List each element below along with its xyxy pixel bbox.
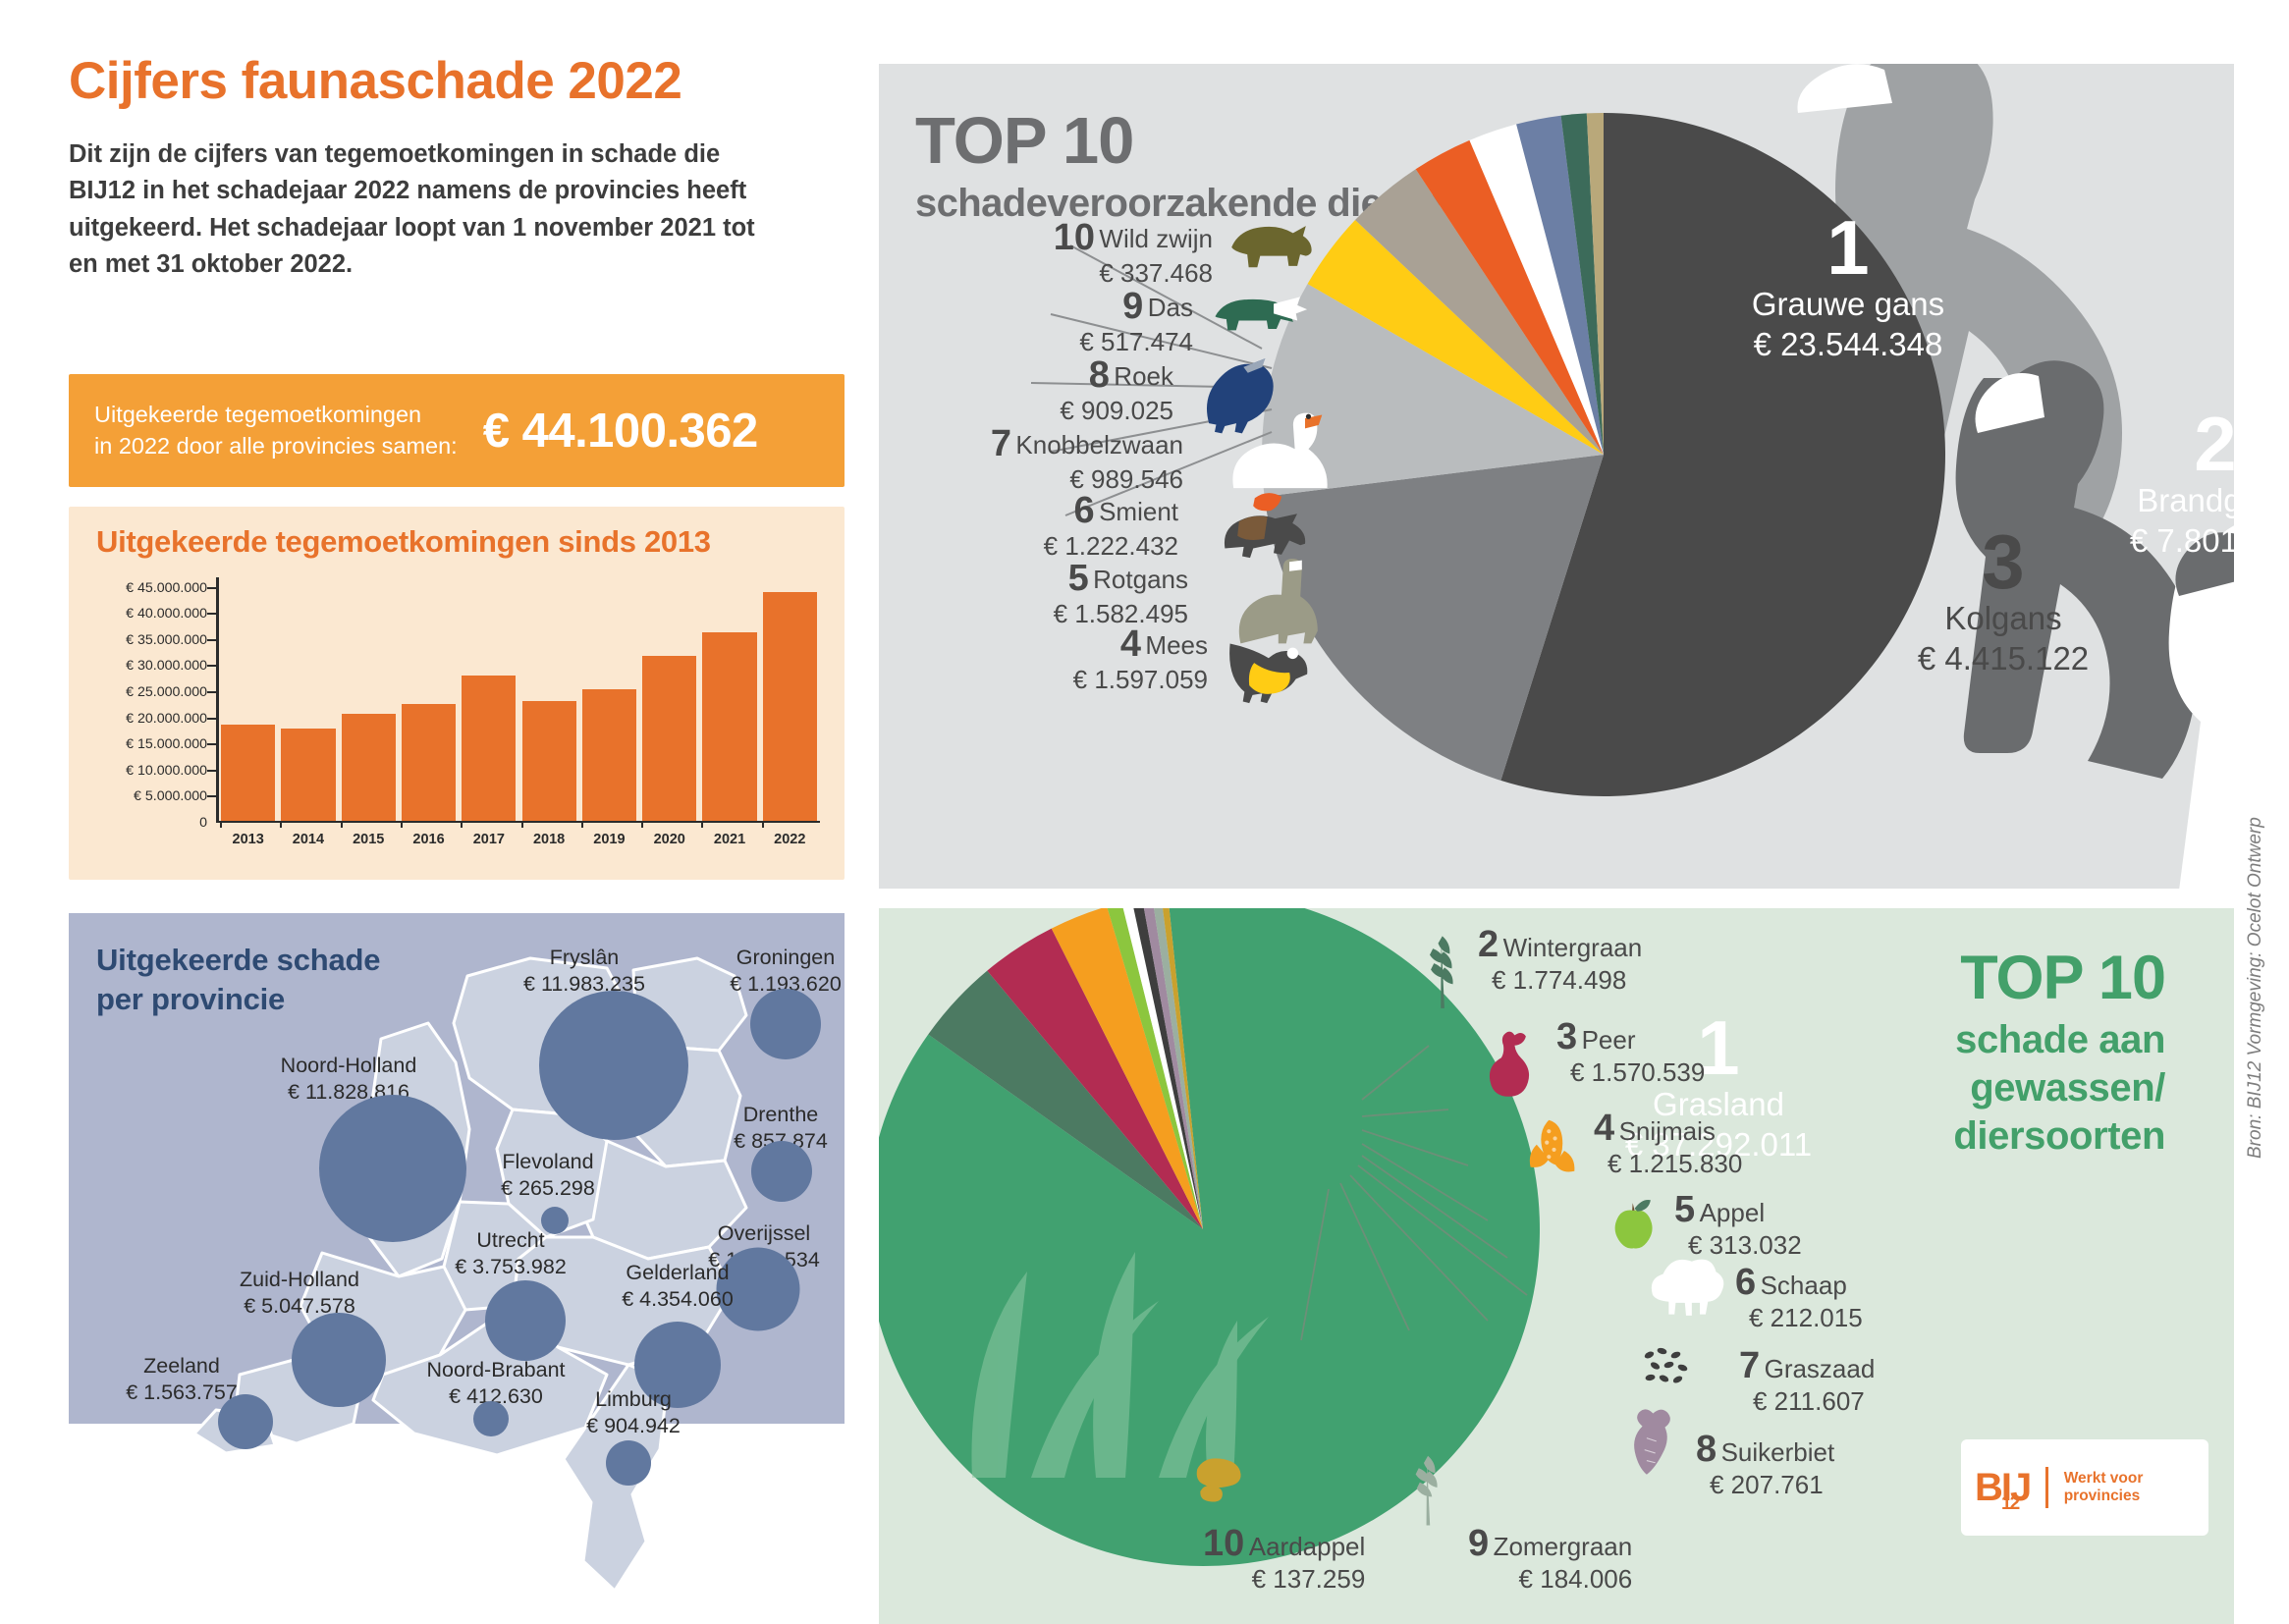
y-axis-tick-label: 0 <box>199 815 207 831</box>
bar <box>702 632 756 821</box>
animal-callout-mees: 4 Mees€ 1.597.059 <box>913 625 1208 695</box>
crop-name: Snijmais <box>1619 1116 1716 1146</box>
crop-name: Wintergraan <box>1503 933 1643 962</box>
total-payout-amount: € 44.100.362 <box>483 404 758 459</box>
crop-name: Schaap <box>1761 1271 1847 1300</box>
crop-value: € 1.215.830 <box>1608 1149 1742 1179</box>
y-axis-tick-label: € 35.000.000 <box>126 632 207 648</box>
crop-rank-number: 7 <box>1739 1345 1760 1386</box>
crop-name: Zomergraan <box>1494 1532 1633 1561</box>
bar-column: 2015 <box>342 577 396 821</box>
x-axis-tick-label: 2013 <box>233 832 264 847</box>
bar <box>522 701 576 821</box>
top10-animals-panel: TOP 10 schadeveroorzakende dieren 1 Grau… <box>879 64 2234 889</box>
province-bubble-noord-holland <box>319 1095 466 1242</box>
province-bubble-frysl-n <box>539 991 688 1140</box>
province-map-title: Uitgekeerde schade per provincie <box>96 941 380 1018</box>
animal-rank-number: 10 <box>1054 217 1095 258</box>
source-credit: Bron: BIJ12 Vormgeving: Ocelot Ontwerp <box>2245 817 2266 1159</box>
crop-value: € 207.761 <box>1710 1470 1834 1500</box>
province-bubble-utrecht <box>485 1280 566 1361</box>
bar <box>402 704 456 821</box>
animal-value: € 337.468 <box>918 258 1213 289</box>
animal-callout-rotgans: 5 Rotgans€ 1.582.495 <box>894 560 1188 629</box>
potato-icon <box>1173 1448 1262 1527</box>
crop-callout-aardappel: 10 Aardappel€ 137.259 <box>1203 1525 1365 1595</box>
province-name: Utrecht <box>455 1227 567 1254</box>
y-axis-tick-label: € 5.000.000 <box>134 788 207 804</box>
province-label-frysl-n: Fryslân€ 11.983.235 <box>523 945 645 998</box>
x-axis-tick-mark <box>641 821 643 828</box>
province-name: Overijssel <box>708 1220 820 1247</box>
animal-value: € 517.474 <box>899 327 1193 357</box>
crop-rank-number: 5 <box>1674 1189 1695 1230</box>
bar <box>642 656 696 821</box>
total-payout-label: Uitgekeerde tegemoetkomingen in 2022 doo… <box>94 400 458 461</box>
x-axis-tick-label: 2015 <box>353 832 384 847</box>
y-axis-tick-mark <box>207 743 216 745</box>
bar <box>763 592 817 821</box>
animal-callout-knobbelzwaan: 7 Knobbelzwaan€ 989.546 <box>879 425 1183 495</box>
logo-tagline: Werkt voor provincies <box>2064 1470 2195 1505</box>
x-axis-tick-label: 2020 <box>654 832 685 847</box>
x-axis-tick-mark <box>762 821 764 828</box>
province-name: Zuid-Holland <box>240 1267 359 1293</box>
x-axis-tick-mark <box>581 821 583 828</box>
crop-rank-number: 4 <box>1594 1108 1614 1149</box>
crop-callout-appel: 5 Appel€ 313.032 <box>1674 1191 1802 1261</box>
x-axis-tick-label: 2014 <box>293 832 324 847</box>
crop-callout-schaap: 6 Schaap€ 212.015 <box>1735 1264 1863 1333</box>
province-name: Drenthe <box>734 1102 828 1128</box>
province-bubble-noord-brabant <box>473 1401 509 1436</box>
bar-column: 2014 <box>281 577 335 821</box>
y-axis-tick-label: € 10.000.000 <box>126 763 207 779</box>
x-axis-tick-mark <box>280 821 282 828</box>
animal-name: Das <box>1148 293 1193 322</box>
y-axis-tick-mark <box>207 613 216 615</box>
province-label-zuid-holland: Zuid-Holland€ 5.047.578 <box>240 1267 359 1320</box>
crop-callout-zomergraan: 9 Zomergraan€ 184.006 <box>1468 1525 1632 1595</box>
province-value: € 3.753.982 <box>455 1254 567 1280</box>
province-bubble-zuid-holland <box>292 1313 386 1407</box>
province-name: Groningen <box>730 945 842 971</box>
logo-divider <box>2045 1467 2047 1508</box>
crop-value: € 184.006 <box>1468 1564 1632 1595</box>
header-block: Cijfers faunaschade 2022 Dit zijn de cij… <box>69 54 795 284</box>
y-axis-tick-label: € 20.000.000 <box>126 711 207 727</box>
animal-value: € 909.025 <box>879 396 1173 426</box>
animal-name: Knobbelzwaan <box>1015 430 1183 460</box>
y-axis-tick-label: € 25.000.000 <box>126 684 207 700</box>
y-axis-tick-label: € 15.000.000 <box>126 736 207 752</box>
x-axis-tick-mark <box>401 821 403 828</box>
crop-callout-suikerbiet: 8 Suikerbiet€ 207.761 <box>1696 1431 1834 1500</box>
x-axis-tick-label: 2019 <box>593 832 625 847</box>
summer-grain-icon <box>1399 1436 1476 1540</box>
bar <box>342 714 396 821</box>
y-axis-tick-label: € 40.000.000 <box>126 606 207 622</box>
bar <box>462 676 516 821</box>
bar-column: 2022 <box>763 577 817 821</box>
crop-callout-wintergraan: 2 Wintergraan€ 1.774.498 <box>1478 926 1642 996</box>
crop-rank-number: 10 <box>1203 1523 1244 1564</box>
pear-icon <box>1478 1014 1554 1112</box>
wild-boar-icon <box>1218 213 1335 292</box>
x-axis-tick-label: 2021 <box>714 832 745 847</box>
y-axis-tick-label: € 30.000.000 <box>126 658 207 674</box>
crop-rank-number: 8 <box>1696 1429 1717 1470</box>
x-axis-tick-mark <box>461 821 463 828</box>
bar-group: 2013201420152016201720182019202020212022 <box>218 577 820 821</box>
bar-column: 2019 <box>582 577 636 821</box>
province-name: Fryslân <box>523 945 645 971</box>
province-name: Noord-Brabant <box>426 1357 565 1383</box>
crop-callout-peer: 3 Peer€ 1.570.539 <box>1556 1018 1705 1088</box>
crop-callout-graszaad: 7 Graszaad€ 211.607 <box>1739 1347 1875 1417</box>
crop-name: Suikerbiet <box>1721 1437 1835 1467</box>
y-axis-tick-mark <box>207 587 216 589</box>
animal-rank-number: 9 <box>1122 286 1143 327</box>
x-axis-tick-label: 2018 <box>533 832 565 847</box>
crop-name: Graszaad <box>1765 1354 1876 1383</box>
province-name: Limburg <box>586 1386 681 1413</box>
province-name: Gelderland <box>622 1260 734 1286</box>
intro-paragraph: Dit zijn de cijfers van tegemoetkomingen… <box>69 136 771 284</box>
bar-column: 2020 <box>642 577 696 821</box>
bij12-logo: BIJ 12 Werkt voor provincies <box>1961 1439 2208 1536</box>
bar-chart-plot: 0€ 5.000.000€ 10.000.000€ 15.000.000€ 20… <box>216 577 820 823</box>
bar-column: 2021 <box>702 577 756 821</box>
x-axis-tick-label: 2017 <box>473 832 505 847</box>
province-bubble-groningen <box>750 989 821 1059</box>
crop-name: Appel <box>1700 1198 1766 1227</box>
province-name: Zeeland <box>126 1353 238 1380</box>
logo-mark-text: BIJ 12 <box>1975 1470 2030 1505</box>
wheat-icon <box>1414 916 1493 1024</box>
crop-name: Peer <box>1582 1025 1636 1055</box>
animal-rank-number: 8 <box>1089 354 1110 396</box>
crop-value: € 1.570.539 <box>1570 1057 1705 1088</box>
animal-name: Smient <box>1099 497 1178 526</box>
bar <box>281 729 335 821</box>
province-label-utrecht: Utrecht€ 3.753.982 <box>455 1227 567 1280</box>
crop-value: € 137.259 <box>1203 1564 1365 1595</box>
bar-column: 2016 <box>402 577 456 821</box>
y-axis-tick-mark <box>207 770 216 772</box>
animal-value: € 1.597.059 <box>913 665 1208 695</box>
y-axis-tick-mark <box>207 639 216 641</box>
province-value: € 265.298 <box>501 1175 595 1202</box>
y-axis-tick-label: € 45.000.000 <box>126 580 207 596</box>
animal-value: € 1.222.432 <box>884 531 1178 562</box>
animal-rank-number: 7 <box>991 423 1011 464</box>
animal-rank-number: 6 <box>1073 490 1094 531</box>
crop-rank-number: 3 <box>1556 1016 1577 1057</box>
province-value: € 904.942 <box>586 1413 681 1439</box>
y-axis-tick-mark <box>207 691 216 693</box>
province-label-flevoland: Flevoland€ 265.298 <box>501 1149 595 1202</box>
x-axis-tick-label: 2016 <box>412 832 444 847</box>
crop-callout-snijmais: 4 Snijmais€ 1.215.830 <box>1594 1110 1742 1179</box>
animal-name: Mees <box>1145 630 1208 660</box>
animal-rank-number: 4 <box>1120 623 1141 665</box>
bar-chart-title: Uitgekeerde tegemoetkomingen sinds 2013 <box>96 524 711 560</box>
y-axis-tick-mark <box>207 718 216 720</box>
animal-value: € 989.546 <box>879 464 1183 495</box>
crop-rank-number: 6 <box>1735 1262 1756 1303</box>
crop-value: € 212.015 <box>1749 1303 1863 1333</box>
tit-bird-icon <box>1218 620 1340 708</box>
crop-value: € 1.774.498 <box>1492 965 1642 996</box>
x-axis-tick-mark <box>701 821 703 828</box>
animal-callout-wild-zwijn: 10 Wild zwijn€ 337.468 <box>918 219 1213 289</box>
animal-rank-number: 5 <box>1068 558 1089 599</box>
bar-chart-panel: Uitgekeerde tegemoetkomingen sinds 2013 … <box>69 507 845 880</box>
corn-icon <box>1515 1101 1592 1204</box>
province-label-limburg: Limburg€ 904.942 <box>586 1386 681 1439</box>
animal-name: Wild zwijn <box>1099 224 1213 253</box>
animal-name: Rotgans <box>1093 565 1188 594</box>
y-axis-tick-mark <box>207 665 216 667</box>
bar-column: 2017 <box>462 577 516 821</box>
animal-callout-roek: 8 Roek€ 909.025 <box>879 356 1173 426</box>
province-bubble-limburg <box>606 1440 651 1486</box>
logo-sub-label: 12 <box>2001 1495 2018 1512</box>
province-bubble-zeeland <box>218 1394 273 1449</box>
y-axis-tick-mark <box>207 795 216 797</box>
crop-name: Aardappel <box>1249 1532 1366 1561</box>
page-title: Cijfers faunaschade 2022 <box>69 54 795 109</box>
province-label-zeeland: Zeeland€ 1.563.757 <box>126 1353 238 1406</box>
animal-callout-das: 9 Das€ 517.474 <box>899 288 1193 357</box>
province-name: Noord-Holland <box>281 1053 417 1079</box>
sheep-icon <box>1627 1257 1725 1343</box>
x-axis-tick-mark <box>521 821 523 828</box>
province-value: € 4.354.060 <box>622 1286 734 1313</box>
x-axis-tick-label: 2022 <box>774 832 805 847</box>
animal-name: Roek <box>1114 361 1173 391</box>
bar <box>221 725 275 821</box>
x-axis-tick-mark <box>341 821 343 828</box>
province-value: € 1.563.757 <box>126 1380 238 1406</box>
province-bubble-drenthe <box>751 1141 812 1202</box>
total-payout-banner: Uitgekeerde tegemoetkomingen in 2022 doo… <box>69 374 845 487</box>
bar <box>582 689 636 821</box>
crop-value: € 211.607 <box>1753 1386 1875 1417</box>
bar-column: 2018 <box>522 577 576 821</box>
sugar-beet-icon <box>1613 1399 1694 1497</box>
bar-column: 2013 <box>221 577 275 821</box>
animal-callout-smient: 6 Smient€ 1.222.432 <box>884 492 1178 562</box>
x-axis-tick-mark <box>220 821 222 828</box>
province-label-gelderland: Gelderland€ 4.354.060 <box>622 1260 734 1313</box>
province-name: Flevoland <box>501 1149 595 1175</box>
